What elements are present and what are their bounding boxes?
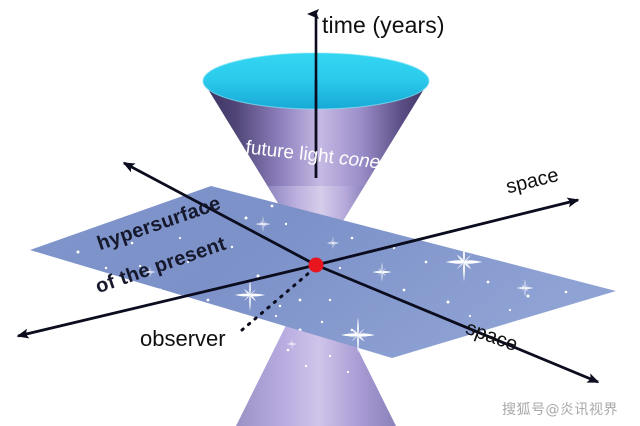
light-cone-figure: time (years) space space observer hypers… (0, 0, 640, 426)
watermark: 搜狐号@炎讯视界 (502, 399, 618, 419)
observer-dot (309, 258, 324, 273)
spacetime-diagram-canvas (0, 0, 640, 426)
